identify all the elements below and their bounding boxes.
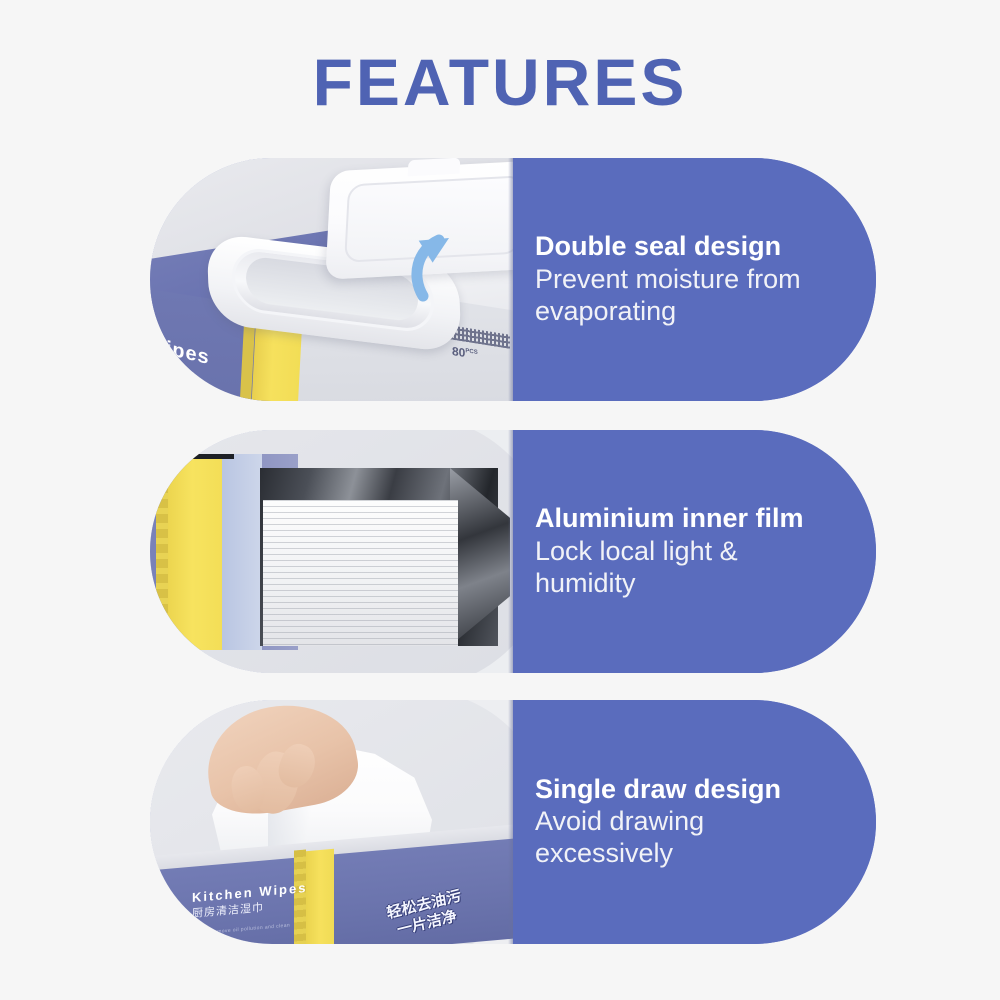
feature-text-single-draw: Single draw design Avoid drawing excessi… — [513, 700, 876, 944]
photo-edge-shadow — [508, 700, 513, 944]
feature-subtext: Prevent moisture from evaporating — [535, 264, 836, 328]
feature-photo-single-draw: Kitchen Wipes 厨房清洁湿巾 Remove oil pollutio… — [150, 700, 513, 944]
open-lid-arrow-icon — [405, 230, 475, 302]
pack-yellow-stripe — [306, 849, 334, 944]
feature-capsule-double-seal: Wipes 80PCS Double seal design Prevent m… — [150, 158, 876, 401]
pack-blue-stripe — [222, 454, 262, 650]
feature-infographic-page: { "page": { "title": "FEATURES", "backgr… — [0, 0, 1000, 1000]
feature-text-aluminium-film: Aluminium inner film Lock local light & … — [513, 430, 876, 673]
pack-yellow-stripe — [168, 454, 222, 650]
page-title: FEATURES — [0, 44, 1000, 120]
feature-heading: Aluminium inner film — [535, 503, 836, 534]
feature-capsule-single-draw: Kitchen Wipes 厨房清洁湿巾 Remove oil pollutio… — [150, 700, 876, 944]
feature-subtext: Lock local light & humidity — [535, 536, 836, 600]
feature-subtext: Avoid drawing excessively — [535, 806, 836, 870]
photo-edge-shadow — [508, 158, 513, 401]
pack-count-value: 80 — [452, 344, 465, 360]
feature-text-double-seal: Double seal design Prevent moisture from… — [513, 158, 876, 401]
pack-yellow-stripe-edge — [294, 849, 306, 944]
pack-yellow-stripe-edge — [156, 454, 168, 650]
stacked-wipes — [263, 500, 458, 646]
feature-photo-aluminium-film — [150, 430, 513, 673]
feature-capsule-aluminium-film: Aluminium inner film Lock local light & … — [150, 430, 876, 673]
photo-edge-shadow — [508, 430, 513, 673]
pack-count-unit: PCS — [465, 348, 477, 356]
flip-lid-tab — [408, 158, 461, 176]
feature-heading: Double seal design — [535, 231, 836, 262]
feature-photo-double-seal: Wipes 80PCS — [150, 158, 513, 401]
feature-heading: Single draw design — [535, 774, 836, 805]
pack-top-seal — [178, 454, 234, 459]
